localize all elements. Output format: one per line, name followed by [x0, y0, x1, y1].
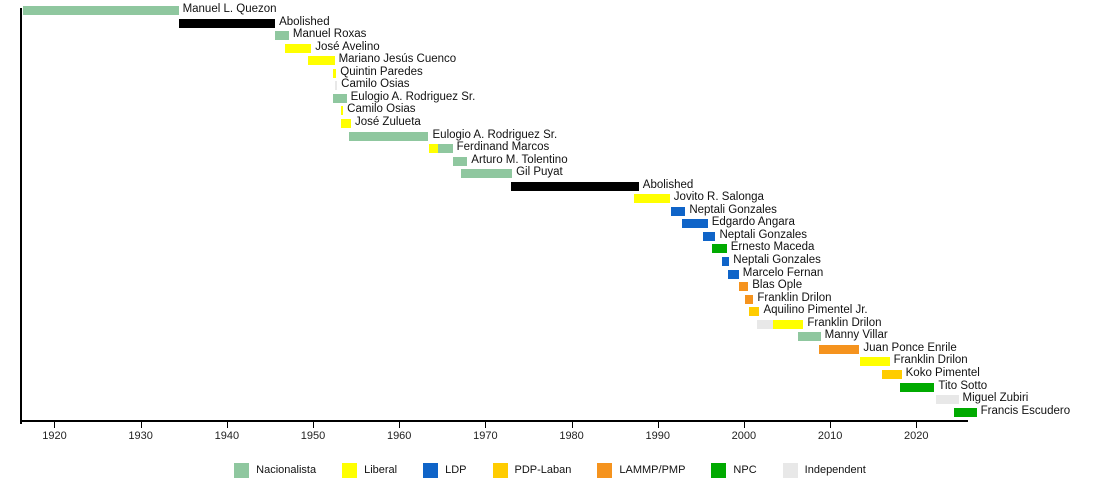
x-tick-label: 1940 [215, 430, 239, 442]
timeline-row-label: Juan Ponce Enrile [863, 342, 956, 355]
timeline-row: Jovito R. Salonga [20, 192, 968, 205]
timeline-row-label: Franklin Drilon [894, 354, 968, 367]
timeline-row: Neptali Gonzales [20, 230, 968, 243]
timeline-row: Juan Ponce Enrile [20, 343, 968, 356]
timeline-row-label: Neptali Gonzales [719, 229, 807, 242]
legend-label: LAMMP/PMP [619, 464, 685, 476]
timeline-row: Manny Villar [20, 330, 968, 343]
timeline-bar-segment [773, 320, 803, 329]
timeline-bar-segment [712, 244, 727, 253]
x-tick-mark [830, 422, 831, 428]
x-axis-line [20, 420, 968, 422]
timeline-row-label: Neptali Gonzales [689, 204, 777, 217]
timeline-row-label: Abolished [643, 179, 694, 192]
timeline-row-label: Tito Sotto [938, 380, 987, 393]
timeline-bar-segment [333, 69, 336, 78]
timeline-row: Franklin Drilon [20, 355, 968, 368]
legend-swatch-icon [711, 463, 726, 478]
timeline-row-label: Eulogio A. Rodriguez Sr. [433, 129, 558, 142]
legend-label: PDP-Laban [515, 464, 572, 476]
legend-item: PDP-Laban [493, 463, 572, 478]
legend-label: Independent [805, 464, 866, 476]
x-tick-mark [744, 422, 745, 428]
timeline-row: Manuel Roxas [20, 29, 968, 42]
legend-item: Nacionalista [234, 463, 316, 478]
legend-item: Liberal [342, 463, 397, 478]
timeline-row-label: Miguel Zubiri [963, 392, 1029, 405]
timeline-bar-segment [757, 320, 773, 329]
legend-item: NPC [711, 463, 756, 478]
timeline-bar-segment [349, 132, 428, 141]
timeline-row: Mariano Jesús Cuenco [20, 54, 968, 67]
timeline-bar-segment [634, 194, 669, 203]
timeline-row-label: Marcelo Fernan [743, 267, 824, 280]
timeline-bar-segment [333, 94, 347, 103]
x-tick-mark [485, 422, 486, 428]
legend-label: LDP [445, 464, 466, 476]
timeline-bar-segment [671, 207, 686, 216]
x-tick-mark [658, 422, 659, 428]
senate-presidents-timeline-chart: Manuel L. QuezonAbolishedManuel RoxasJos… [0, 0, 1100, 486]
timeline-row-label: Jovito R. Salonga [674, 191, 764, 204]
timeline-row-label: Aquilino Pimentel Jr. [763, 304, 867, 317]
timeline-row: Ernesto Maceda [20, 242, 968, 255]
timeline-row-label: Ernesto Maceda [731, 241, 815, 254]
chart-legend: NacionalistaLiberalLDPPDP-LabanLAMMP/PMP… [0, 458, 1100, 482]
timeline-bar-segment [335, 81, 338, 90]
timeline-row-label: Gil Puyat [516, 166, 563, 179]
timeline-row: Abolished [20, 180, 968, 193]
timeline-row: Edgardo Angara [20, 217, 968, 230]
timeline-row: Neptali Gonzales [20, 255, 968, 268]
timeline-row: José Avelino [20, 42, 968, 55]
timeline-row: Camilo Osias [20, 104, 968, 117]
timeline-row: Camilo Osias [20, 79, 968, 92]
timeline-bar-segment [819, 345, 860, 354]
legend-swatch-icon [423, 463, 438, 478]
timeline-row-label: José Avelino [315, 41, 379, 54]
timeline-bar-segment [749, 307, 759, 316]
timeline-bar-segment [23, 6, 178, 15]
legend-swatch-icon [234, 463, 249, 478]
timeline-row-label: Francis Escudero [981, 405, 1070, 418]
plot-area: Manuel L. QuezonAbolishedManuel RoxasJos… [20, 4, 968, 420]
x-tick-label: 1980 [559, 430, 583, 442]
timeline-row-label: José Zulueta [355, 116, 421, 129]
timeline-bar-segment [285, 44, 312, 53]
timeline-row-label: Eulogio A. Rodriguez Sr. [351, 91, 476, 104]
x-tick-mark [313, 422, 314, 428]
timeline-row-label: Manuel L. Quezon [183, 3, 277, 16]
x-tick-label: 1970 [473, 430, 497, 442]
legend-item: Independent [783, 463, 866, 478]
x-tick-mark [572, 422, 573, 428]
timeline-row-label: Abolished [279, 16, 330, 29]
timeline-row: Eulogio A. Rodriguez Sr. [20, 92, 968, 105]
timeline-bar-segment [511, 182, 639, 191]
x-tick-label: 1930 [128, 430, 152, 442]
x-tick-label: 1920 [42, 430, 66, 442]
timeline-bar-segment [860, 357, 889, 366]
timeline-bar-segment [722, 257, 729, 266]
timeline-bar-segment [882, 370, 902, 379]
timeline-row: Gil Puyat [20, 167, 968, 180]
timeline-row: Francis Escudero [20, 406, 968, 419]
legend-label: Nacionalista [256, 464, 316, 476]
timeline-row: Tito Sotto [20, 381, 968, 394]
x-tick-mark [227, 422, 228, 428]
timeline-row: Marcelo Fernan [20, 268, 968, 281]
x-tick-label: 1950 [301, 430, 325, 442]
timeline-bar-segment [682, 219, 708, 228]
timeline-bar-segment [275, 31, 289, 40]
timeline-bar-segment [453, 157, 468, 166]
timeline-bar-segment [798, 332, 820, 341]
timeline-row-label: Quintin Paredes [340, 66, 422, 79]
timeline-row: Abolished [20, 17, 968, 30]
timeline-row-label: Manuel Roxas [293, 28, 367, 41]
x-tick-label: 2020 [904, 430, 928, 442]
x-tick-mark [141, 422, 142, 428]
timeline-row-label: Camilo Osias [341, 78, 409, 91]
timeline-bar-segment [438, 144, 453, 153]
x-tick-label: 1990 [645, 430, 669, 442]
timeline-bar-segment [341, 106, 344, 115]
x-tick-label: 2000 [732, 430, 756, 442]
timeline-row-label: Camilo Osias [347, 103, 415, 116]
timeline-row: Arturo M. Tolentino [20, 155, 968, 168]
legend-swatch-icon [783, 463, 798, 478]
timeline-bar-segment [900, 383, 934, 392]
timeline-row-label: Franklin Drilon [807, 317, 881, 330]
timeline-row-label: Manny Villar [825, 329, 888, 342]
x-tick-mark [54, 422, 55, 428]
timeline-row-label: Arturo M. Tolentino [471, 154, 567, 167]
legend-swatch-icon [342, 463, 357, 478]
timeline-row-label: Mariano Jesús Cuenco [339, 53, 457, 66]
timeline-row: Manuel L. Quezon [20, 4, 968, 17]
x-tick-mark [916, 422, 917, 428]
legend-label: NPC [733, 464, 756, 476]
legend-swatch-icon [597, 463, 612, 478]
timeline-bar-segment [461, 169, 512, 178]
timeline-bar-segment [341, 119, 350, 128]
timeline-row-label: Neptali Gonzales [733, 254, 821, 267]
timeline-bar-segment [179, 19, 276, 28]
timeline-bar-segment [703, 232, 715, 241]
legend-item: LAMMP/PMP [597, 463, 685, 478]
timeline-row-label: Ferdinand Marcos [457, 141, 550, 154]
x-tick-label: 1960 [387, 430, 411, 442]
legend-swatch-icon [493, 463, 508, 478]
timeline-bar-segment [739, 282, 748, 291]
timeline-row-label: Edgardo Angara [712, 216, 795, 229]
x-tick-mark [399, 422, 400, 428]
legend-label: Liberal [364, 464, 397, 476]
timeline-row-label: Koko Pimentel [906, 367, 980, 380]
timeline-row-label: Blas Ople [752, 279, 802, 292]
x-tick-label: 2010 [818, 430, 842, 442]
timeline-row-label: Franklin Drilon [757, 292, 831, 305]
timeline-bar-segment [954, 408, 976, 417]
timeline-bar-segment [429, 144, 438, 153]
timeline-row: Miguel Zubiri [20, 393, 968, 406]
timeline-row: Neptali Gonzales [20, 205, 968, 218]
timeline-row: Quintin Paredes [20, 67, 968, 80]
legend-item: LDP [423, 463, 466, 478]
timeline-bar-segment [308, 56, 335, 65]
timeline-bar-segment [728, 270, 738, 279]
timeline-bar-segment [745, 295, 754, 304]
timeline-bar-segment [936, 395, 958, 404]
timeline-row: Koko Pimentel [20, 368, 968, 381]
